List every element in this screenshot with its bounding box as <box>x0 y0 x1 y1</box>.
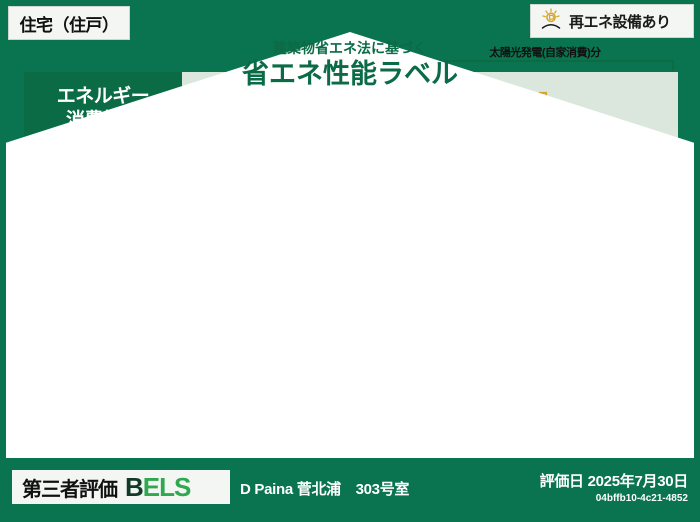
bels-logo: BELS <box>125 472 190 503</box>
bels-certification-chip: 第三者評価 BELS <box>12 470 230 504</box>
third-party-label: 第三者評価 <box>22 473 117 502</box>
bels-logo-rest: ELS <box>143 472 191 502</box>
evaluation-id: 04bffb10-4c21-4852 <box>540 493 688 504</box>
label-title: 建築物省エネ法に基づく 省エネ性能ラベル <box>0 40 700 92</box>
property-name: D Paina 菅北浦 303号室 <box>240 478 409 499</box>
label-title-sub: 建築物省エネ法に基づく <box>0 40 700 57</box>
category-chip: 住宅（住戸） <box>8 6 130 40</box>
sun-icon <box>539 7 563 36</box>
label-footer: 第三者評価 BELS D Paina 菅北浦 303号室 評価日 2025年7月… <box>0 460 700 522</box>
renewable-badge-label: 再エネ設備あり <box>569 11 671 32</box>
category-chip-label: 住宅（住戸） <box>20 11 119 36</box>
label-title-main: 省エネ性能ラベル <box>0 58 700 92</box>
renewable-energy-badge: 再エネ設備あり <box>530 4 694 38</box>
energy-label-card: 住宅（住戸） 再エネ設備あり 建築物省エネ法に基づく 省エネ性能ラベル <box>0 0 700 522</box>
evaluation-info: 評価日 2025年7月30日 04bffb10-4c21-4852 <box>540 470 688 504</box>
bels-logo-first-letter: B <box>125 472 143 502</box>
evaluation-date: 評価日 2025年7月30日 <box>540 470 688 491</box>
